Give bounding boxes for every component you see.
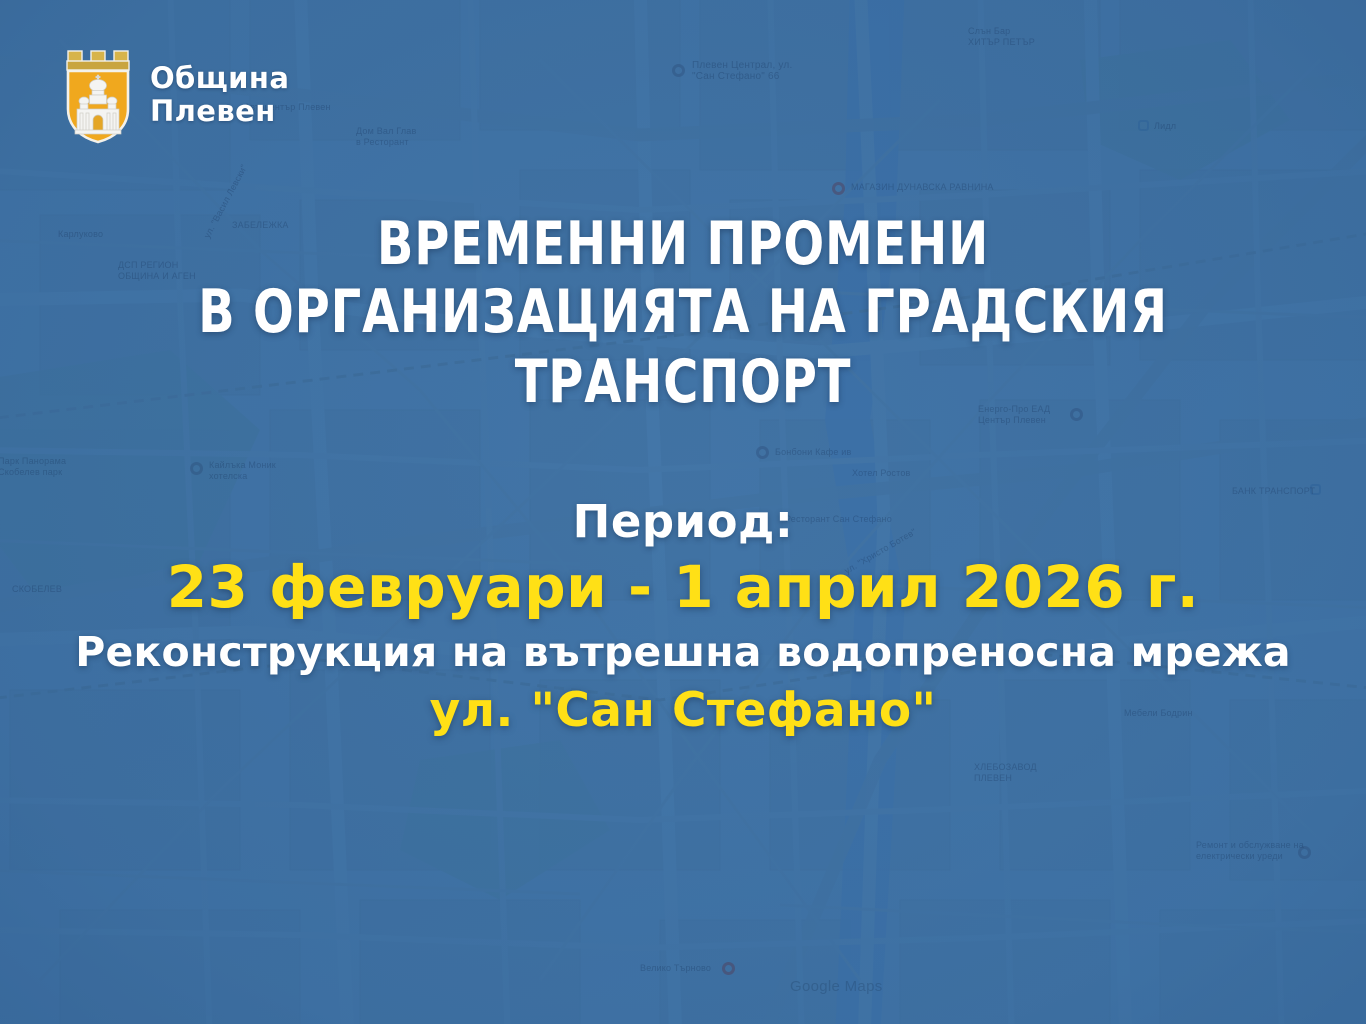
logo-line-1: Община xyxy=(150,62,289,95)
map-label: Дом Вал Глав в Ресторант xyxy=(356,126,416,148)
page-title-line-1: ВРЕМЕННИ ПРОМЕНИ xyxy=(137,211,1230,277)
page-title-line-2: В ОРГАНИЗАЦИЯТА НА ГРАДСКИЯ ТРАНСПОРТ xyxy=(137,277,1230,417)
announcement-poster: Плевен Централ, ул. "Сан Стефано" 66 МАГ… xyxy=(0,0,1366,1024)
map-label: Ремонт и обслужване на електрически уред… xyxy=(1196,840,1304,862)
map-label: Бонбони Кафе ив xyxy=(775,447,852,458)
period-label: Период: xyxy=(0,494,1366,550)
map-label: Велико Търново xyxy=(640,963,711,974)
municipality-logo-text: Община Плевен xyxy=(150,62,289,128)
page-title: ВРЕМЕННИ ПРОМЕНИ В ОРГАНИЗАЦИЯТА НА ГРАД… xyxy=(0,211,1366,417)
map-pin-icon xyxy=(190,462,203,475)
announcement-details: Период: 23 февруари - 1 април 2026 г. Ре… xyxy=(0,494,1366,742)
municipality-logo: Община Плевен xyxy=(62,45,289,145)
map-label: Хотел Ростов xyxy=(852,468,911,479)
google-maps-watermark: Google Maps xyxy=(790,978,883,995)
map-label: МАГАЗИН ДУНАВСКА РАВНИНА xyxy=(851,182,994,193)
map-label: Плевен Централ, ул. "Сан Стефано" 66 xyxy=(692,60,792,82)
logo-line-2: Плевен xyxy=(150,95,289,128)
map-pin-icon xyxy=(722,962,735,975)
map-label: Лидл xyxy=(1154,121,1176,132)
map-pin-icon xyxy=(1138,120,1149,131)
map-pin-icon xyxy=(832,182,845,195)
map-label: Парк Панорама Скобелев парк xyxy=(0,456,66,478)
map-pin-icon xyxy=(672,64,685,77)
map-pin-icon xyxy=(756,446,769,459)
reason-text: Реконструкция на вътрешна водопреносна м… xyxy=(0,624,1366,680)
map-label: Кайлъка Моник хотелска xyxy=(209,460,276,482)
period-dates: 23 февруари - 1 април 2026 г. xyxy=(0,550,1366,624)
map-label: Слън Бар ХИТЪР ПЕТЪР xyxy=(968,26,1035,48)
map-label: ХЛЕБОЗАВОД ПЛЕВЕН xyxy=(974,762,1037,784)
pleven-coat-of-arms-icon xyxy=(62,45,134,145)
street-name: ул. "Сан Стефано" xyxy=(0,680,1366,742)
